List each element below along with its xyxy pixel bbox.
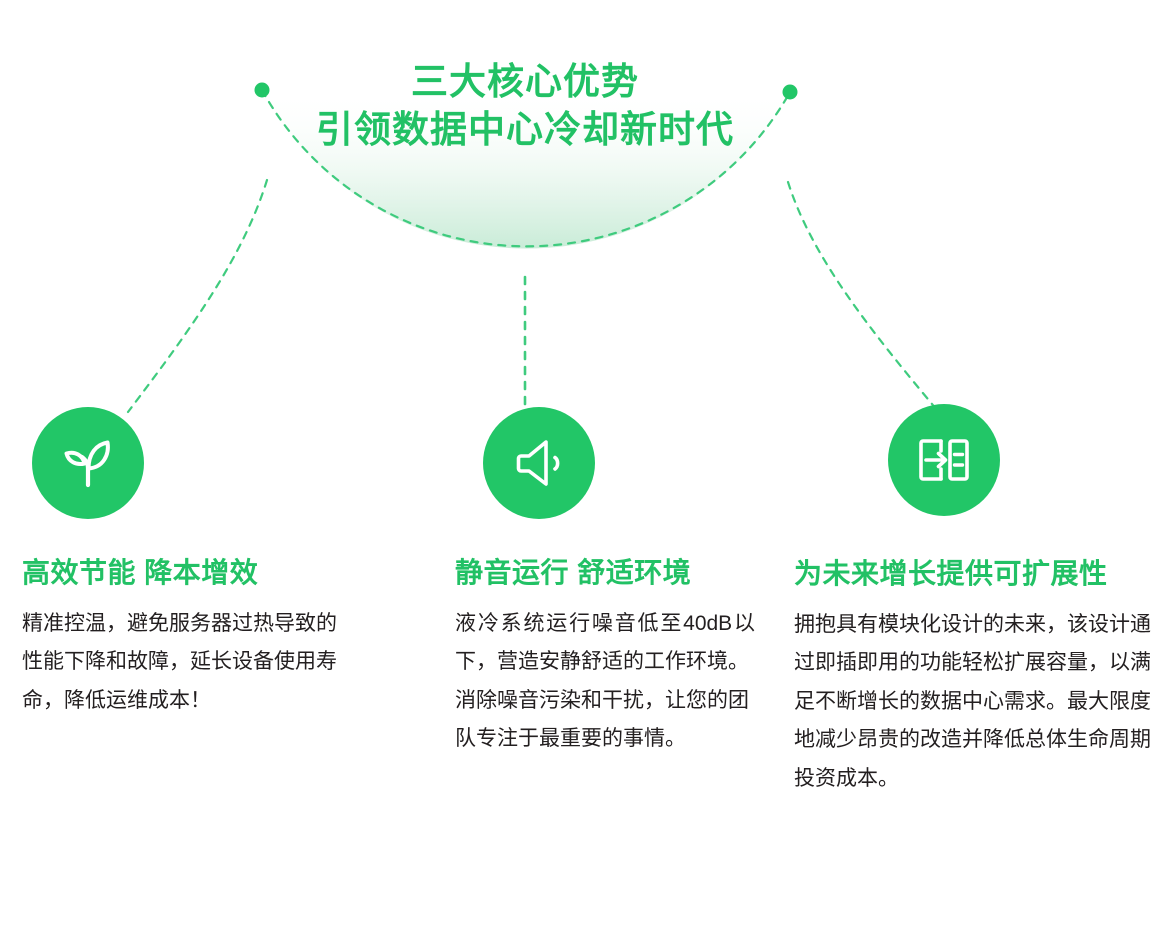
connector-line-left bbox=[128, 180, 267, 412]
sprout-icon bbox=[57, 432, 119, 494]
feature-column-quiet: 静音运行 舒适环境 液冷系统运行噪音低至40dB以下，营造安静舒适的工作环境。 … bbox=[414, 404, 786, 759]
column-heading: 静音运行 舒适环境 bbox=[455, 551, 786, 591]
column-paragraph: 消除噪音污染和干扰，让您的团队专注于最重要的事情。 bbox=[455, 682, 755, 759]
expand-panels-icon bbox=[915, 431, 973, 489]
page-title: 三大核心优势 引领数据中心冷却新时代 bbox=[0, 58, 1050, 154]
column-paragraph: 液冷系统运行噪音低至40dB以下，营造安静舒适的工作环境。 bbox=[455, 605, 755, 682]
column-paragraph: 拥抱具有模块化设计的未来，该设计通过即插即用的功能轻松扩展容量，以满足不断增长的… bbox=[794, 606, 1160, 798]
feature-columns: 高效节能 降本增效 精准控温，避免服务器过热导致的性能下降和故障，延长设备使用寿… bbox=[0, 404, 1170, 798]
column-paragraph: 精准控温，避免服务器过热导致的性能下降和故障，延长设备使用寿命，降低运维成本！ bbox=[22, 605, 352, 720]
expand-panels-icon-badge bbox=[888, 404, 1000, 516]
column-heading: 为未来增长提供可扩展性 bbox=[794, 552, 1170, 592]
feature-column-energy: 高效节能 降本增效 精准控温，避免服务器过热导致的性能下降和故障，延长设备使用寿… bbox=[0, 404, 414, 720]
title-line-2: 引领数据中心冷却新时代 bbox=[0, 106, 1050, 154]
connector-line-right bbox=[788, 182, 937, 410]
column-body: 拥抱具有模块化设计的未来，该设计通过即插即用的功能轻松扩展容量，以满足不断增长的… bbox=[794, 606, 1160, 798]
speaker-volume-icon-badge bbox=[483, 407, 595, 519]
column-heading: 高效节能 降本增效 bbox=[22, 551, 414, 591]
title-line-1: 三大核心优势 bbox=[0, 58, 1050, 106]
sprout-icon-badge bbox=[32, 407, 144, 519]
feature-column-scalability: 为未来增长提供可扩展性 拥抱具有模块化设计的未来，该设计通过即插即用的功能轻松扩… bbox=[786, 404, 1170, 798]
speaker-volume-icon bbox=[510, 434, 568, 492]
column-body: 液冷系统运行噪音低至40dB以下，营造安静舒适的工作环境。 消除噪音污染和干扰，… bbox=[455, 605, 755, 759]
column-body: 精准控温，避免服务器过热导致的性能下降和故障，延长设备使用寿命，降低运维成本！ bbox=[22, 605, 352, 720]
